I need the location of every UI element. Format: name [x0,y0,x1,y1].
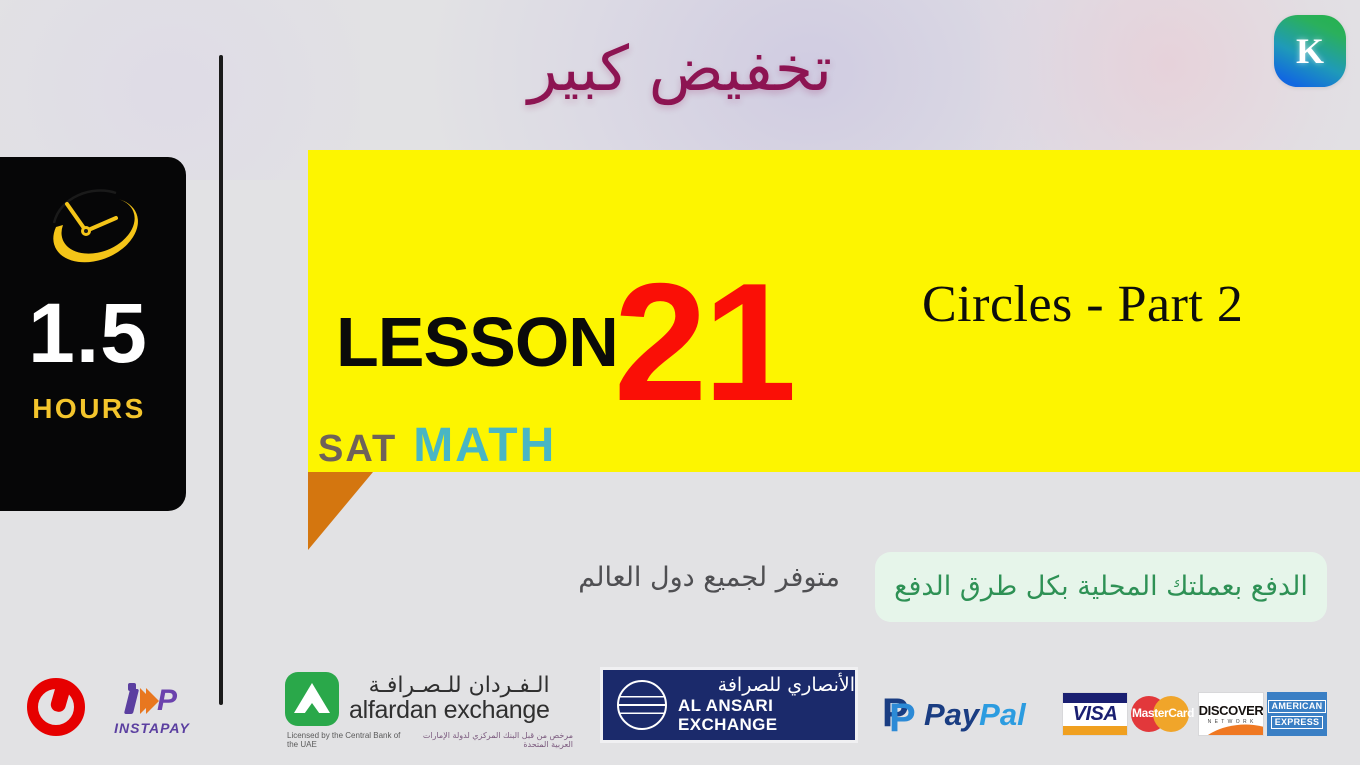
amex-line-2: EXPRESS [1271,716,1324,729]
instapay-wordmark: INSTAPAY [114,720,190,736]
subject-exam-label: SAT [318,428,397,471]
al-ansari-name-english: AL ANSARI EXCHANGE [678,696,855,735]
amex-card-icon[interactable]: AMERICAN EXPRESS [1267,692,1327,736]
discover-card-icon[interactable]: DISCOVER N E T W O R K [1198,692,1264,736]
alfardan-exchange-logo[interactable]: الـفـردان للـصـرافـة alfardan exchange L… [285,673,575,747]
global-availability-note: متوفر لجميع دول العالم [520,560,840,595]
duration-unit-label: HOURS [32,393,146,425]
subject-row: SAT MATH [318,418,556,473]
payment-logo-strip: P INSTAPAY الـفـردان للـصـرافـة alfardan… [0,655,1360,765]
ribbon-tail [308,472,373,550]
alfardan-license-arabic: مرخص من قبل البنك المركزي لدولة الإمارات… [407,731,573,749]
mastercard-icon[interactable]: MasterCard [1131,692,1195,736]
lesson-number: 21 [614,258,793,426]
paypal-word-pal: Pal [979,697,1026,732]
vertical-divider [219,55,223,705]
local-currency-pill: الدفع بعملتك المحلية بكل طرق الدفع [875,552,1327,622]
visa-label: VISA [1063,703,1127,726]
paypal-mark-icon: PP [882,695,916,733]
local-currency-pill-text: الدفع بعملتك المحلية بكل طرق الدفع [894,571,1308,603]
globe-icon [617,680,667,730]
lesson-banner: LESSON 21 Circles - Part 2 SAT MATH [308,150,1360,472]
al-ansari-exchange-logo[interactable]: الأنصاري للصرافة AL ANSARI EXCHANGE [600,667,858,743]
lesson-title-row: LESSON 21 [336,224,793,392]
amex-line-1: AMERICAN [1268,700,1327,713]
paypal-word-pay: Pay [924,697,979,732]
duration-value: 1.5 [28,291,148,375]
visa-card-icon[interactable]: VISA [1062,692,1128,736]
alfardan-name-arabic: الـفـردان للـصـرافـة [349,674,550,697]
paypal-logo[interactable]: PP PayPal [882,693,1032,735]
alfardan-license-english: Licensed by the Central Bank of the UAE [287,731,407,749]
lesson-word: LESSON [336,307,618,377]
mastercard-label: MasterCard [1131,706,1195,720]
card-network-logos: VISA MasterCard DISCOVER N E T W O R K A… [1062,691,1327,737]
subject-area-label: MATH [413,418,556,473]
discover-label: DISCOVER [1199,703,1264,718]
lesson-topic: Circles - Part 2 [922,275,1243,334]
alfardan-name-english: alfardan exchange [349,697,550,723]
instapay-icon[interactable]: P INSTAPAY [102,677,202,743]
duration-card: 1.5 HOURS [0,157,186,511]
promo-headline-arabic: تخفيض كبير [0,38,1360,100]
alfardan-mark-icon [285,672,339,726]
instapay-letter: P [157,686,177,716]
promo-poster: K تخفيض كبير 1.5 HOURS LESSON 21 Circles… [0,0,1360,765]
vodafone-icon[interactable] [25,676,87,738]
al-ansari-name-arabic: الأنصاري للصرافة [678,675,855,696]
clock-icon [34,183,140,275]
